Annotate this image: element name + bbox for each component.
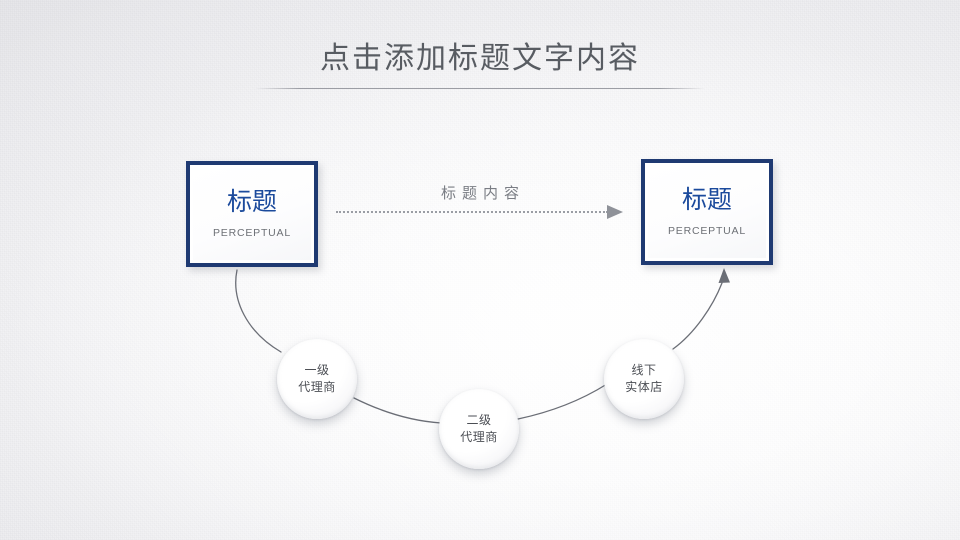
node-box-right-title: 标题 [682,188,732,213]
node-box-left-subtitle: PERCEPTUAL [213,228,291,239]
circle-node-3-line2: 实体店 [625,379,663,396]
connector-label: 标题内容 [380,186,580,201]
page-title[interactable]: 点击添加标题文字内容 [0,44,960,74]
title-underline-divider [255,88,705,89]
node-box-right[interactable]: 标题 PERCEPTUAL [641,159,773,265]
node-box-right-subtitle: PERCEPTUAL [668,226,746,237]
slide-canvas: 点击添加标题文字内容 标题 PERCEPTUAL 标题 PERCEPTUAL 标… [0,0,960,540]
node-box-left-inner: 标题 PERCEPTUAL [192,167,312,261]
circle-node-3-line1: 线下 [631,362,656,379]
circle-node-1-line1: 一级 [304,362,329,379]
circle-node-1-line2: 代理商 [298,379,336,396]
dotted-arrow-right [336,205,626,219]
page-title-block: 点击添加标题文字内容 [0,44,960,74]
circle-node-2-line1: 二级 [466,412,491,429]
circle-node-1[interactable]: 一级 代理商 [277,339,357,419]
arrow-head-icon [607,205,623,219]
circle-node-2-line2: 代理商 [460,429,498,446]
node-box-right-inner: 标题 PERCEPTUAL [647,165,767,259]
circle-node-2[interactable]: 二级 代理商 [439,389,519,469]
node-box-left-title: 标题 [227,190,277,215]
node-box-left[interactable]: 标题 PERCEPTUAL [186,161,318,267]
dotted-arrow-line [336,211,608,213]
circle-node-3[interactable]: 线下 实体店 [604,339,684,419]
